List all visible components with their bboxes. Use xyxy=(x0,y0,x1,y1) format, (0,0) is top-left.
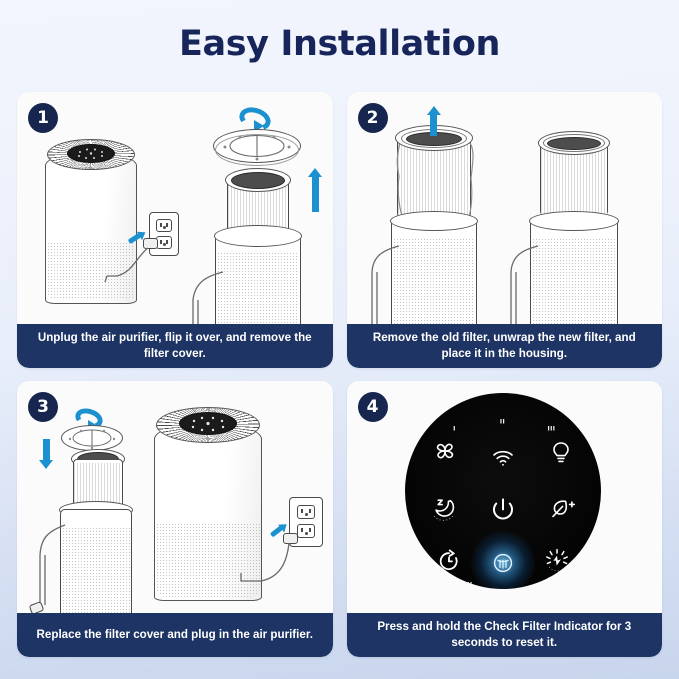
light-bulb-icon[interactable] xyxy=(552,441,570,465)
step-caption-1: Unplug the air purifier, flip it over, a… xyxy=(17,324,333,368)
control-panel-disc[interactable]: I II III xyxy=(405,393,601,589)
fan-speed-icon[interactable] xyxy=(433,439,457,463)
step-illustration-4: I II III xyxy=(347,381,663,613)
fan-speed-mark-1: I xyxy=(453,426,456,433)
plug-in-arrow-3 xyxy=(270,526,283,538)
remove-filter-arrow-2 xyxy=(427,106,441,136)
step-caption-3: Replace the filter cover and plug in the… xyxy=(17,613,333,657)
air-quality-icon[interactable] xyxy=(550,498,576,522)
outlet-socket-bottom-1 xyxy=(156,236,172,249)
filter-cover-rim-shadow-1 xyxy=(215,134,299,166)
housing-left-cable-2 xyxy=(365,242,405,324)
step-illustration-2 xyxy=(347,92,663,324)
filter-top-inner-1 xyxy=(231,172,285,189)
timer-label-2h: 2H xyxy=(463,582,473,589)
housing-right-mesh-2 xyxy=(532,238,616,324)
app-control-icon[interactable] xyxy=(547,577,557,589)
step-caption-2: Remove the old filter, unwrap the new fi… xyxy=(347,324,663,368)
lift-cover-arrow-1 xyxy=(308,168,322,212)
housing-left-band-2 xyxy=(390,211,478,231)
step-number-badge-1: 1 xyxy=(28,103,58,133)
wifi-icon[interactable] xyxy=(492,450,514,468)
new-filter-pleats-2 xyxy=(541,148,607,214)
power-cable-3 xyxy=(231,539,295,595)
fan-speed-mark-2: II xyxy=(500,419,505,426)
place-cover-arrow-3 xyxy=(39,439,53,469)
filter-cover-detail-3 xyxy=(61,425,123,451)
step-panel-3: 3 xyxy=(17,381,333,657)
step-number-badge-2: 2 xyxy=(358,103,388,133)
step-panel-2: 2 xyxy=(347,92,663,368)
step-panel-1: 1 xyxy=(17,92,333,368)
fan-speed-mark-3: III xyxy=(548,426,556,433)
power-icon[interactable] xyxy=(490,497,516,523)
large-control-panel-dots-3 xyxy=(179,412,237,435)
outlet-socket-top-3 xyxy=(297,505,315,519)
housing-left-mesh-2 xyxy=(393,238,475,324)
check-filter-indicator-icon[interactable] xyxy=(493,553,513,573)
housing-band-1 xyxy=(214,225,302,247)
auto-mode-icon[interactable] xyxy=(543,548,571,574)
housing-right-cable-2 xyxy=(504,242,544,324)
step-illustration-1 xyxy=(17,92,333,324)
new-filter-core-2 xyxy=(547,137,601,150)
rotate-cover-arrow-1 xyxy=(239,108,271,130)
step-panel-4: 4 I II III xyxy=(347,381,663,657)
small-housing-cable-3 xyxy=(31,521,75,613)
timer-icon[interactable] xyxy=(437,549,461,573)
housing-cable-1 xyxy=(185,266,231,324)
step-caption-4: Press and hold the Check Filter Indicato… xyxy=(347,613,663,657)
control-panel-dots xyxy=(67,144,115,163)
housing-right-band-2 xyxy=(529,211,619,231)
steps-grid: 1 xyxy=(17,92,662,657)
outlet-socket-top-1 xyxy=(156,219,172,232)
outlet-socket-bottom-3 xyxy=(297,524,315,538)
page-title: Easy Installation xyxy=(0,24,679,64)
step-number-badge-3: 3 xyxy=(28,392,58,422)
step-number-badge-4: 4 xyxy=(358,392,388,422)
power-cable-1 xyxy=(103,242,151,288)
step-illustration-3 xyxy=(17,381,333,613)
sleep-mode-icon[interactable] xyxy=(430,497,458,523)
infographic-page: Easy Installation 1 xyxy=(0,0,679,679)
